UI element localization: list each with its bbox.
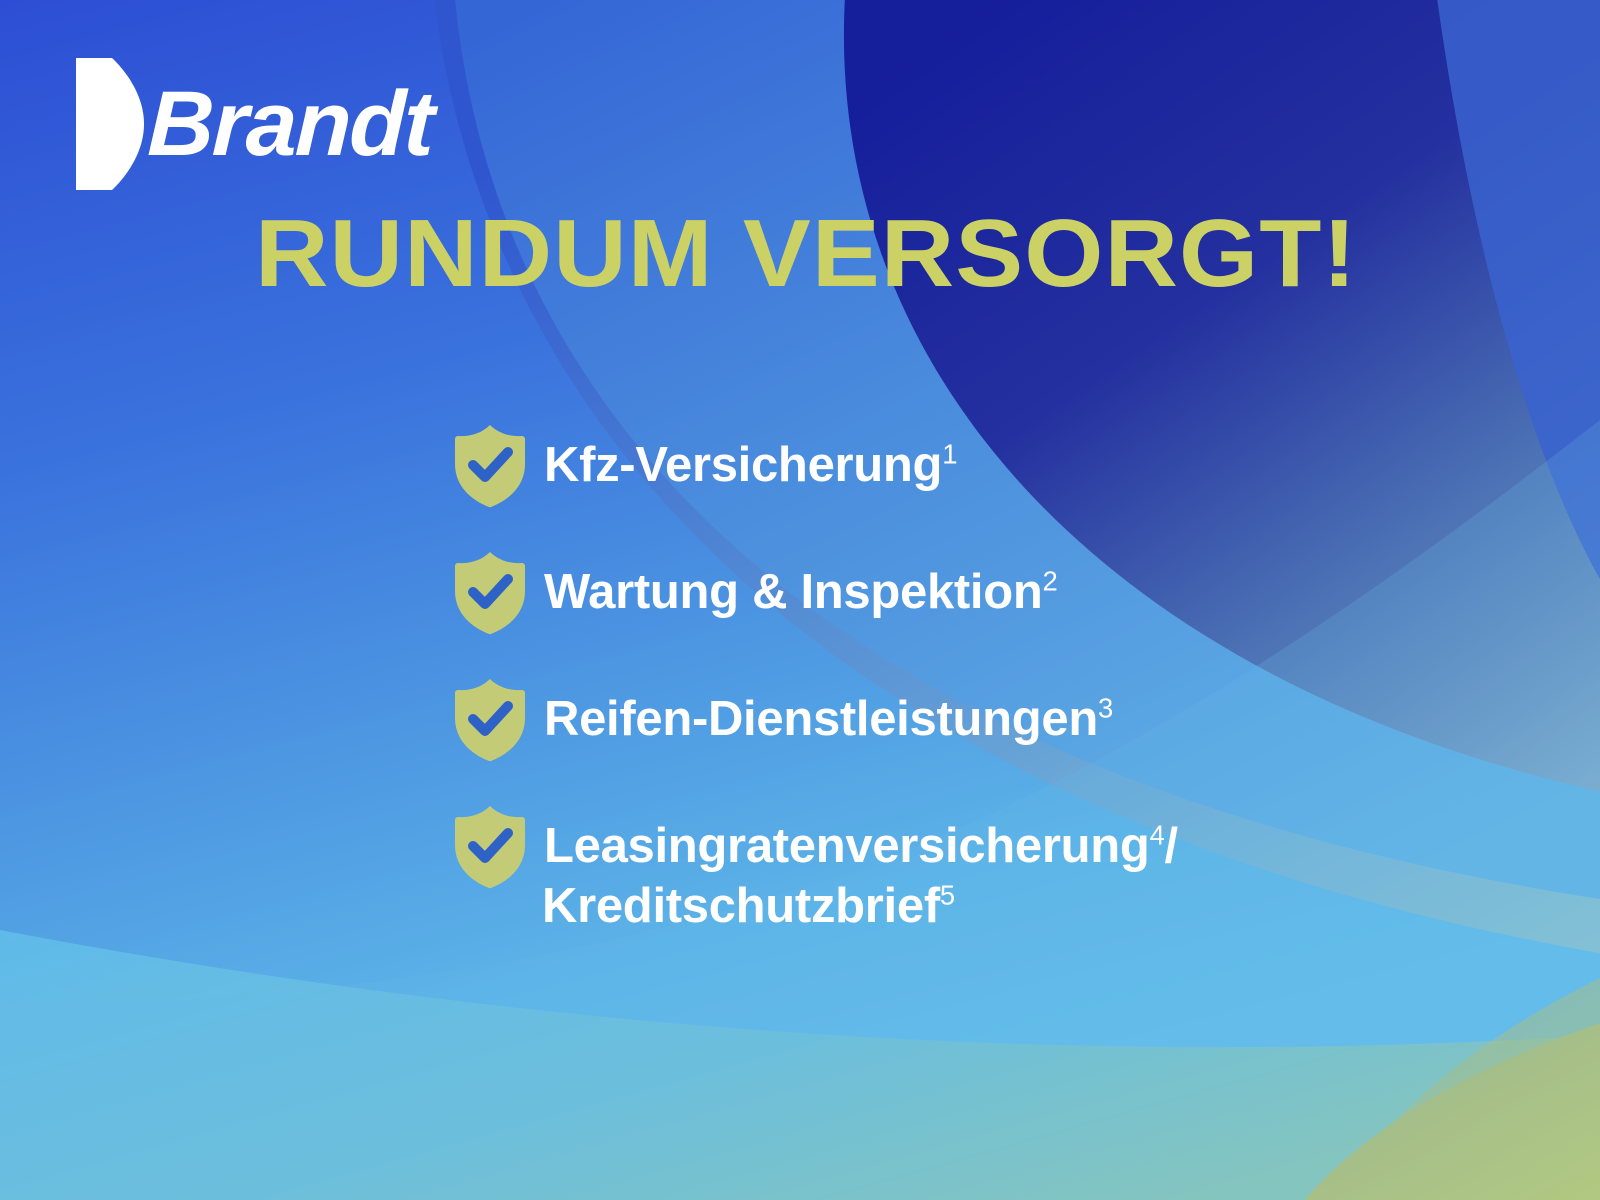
list-item: Wartung & Inspektion2 [452,545,1532,672]
list-item-label: Leasingratenversicherung4/ Kreditschutzb… [544,817,1178,937]
feature-list: Kfz-Versicherung1 Wartung & Inspektion2 … [452,418,1532,926]
shield-check-icon [452,805,528,889]
promo-graphic: Brandt RUNDUM VERSORGT! Kfz-Versicherung… [0,0,1600,1200]
list-item-text: Kfz-Versicherung [544,438,942,492]
page-title: RUNDUM VERSORGT! [255,206,1357,302]
list-item-text: Wartung & Inspektion [544,565,1043,619]
footnote-marker: 2 [1043,566,1058,597]
brand-wordmark: Brandt [146,78,434,170]
list-item-label: Reifen-Dienstleistungen3 [544,690,1113,750]
brand-logo[interactable]: Brandt [72,56,432,192]
footnote-marker: 5 [940,879,955,910]
footnote-marker: 4 [1150,820,1165,851]
list-item: Kfz-Versicherung1 [452,418,1532,545]
shield-check-icon [452,424,528,508]
footnote-marker: 1 [942,439,957,470]
label-separator: / [1164,819,1177,873]
footnote-marker: 3 [1098,693,1113,724]
shield-check-icon [452,551,528,635]
list-item-text-line2: Kreditschutzbrief [542,879,940,933]
list-item: Leasingratenversicherung4/ Kreditschutzb… [452,799,1532,926]
list-item: Reifen-Dienstleistungen3 [452,672,1532,799]
bracket-swoosh-icon [72,56,144,192]
list-item-text: Reifen-Dienstleistungen [544,692,1098,746]
list-item-label: Kfz-Versicherung1 [544,436,957,496]
list-item-label: Wartung & Inspektion2 [544,563,1057,623]
list-item-text: Leasingratenversicherung [544,819,1150,873]
shield-check-icon [452,678,528,762]
